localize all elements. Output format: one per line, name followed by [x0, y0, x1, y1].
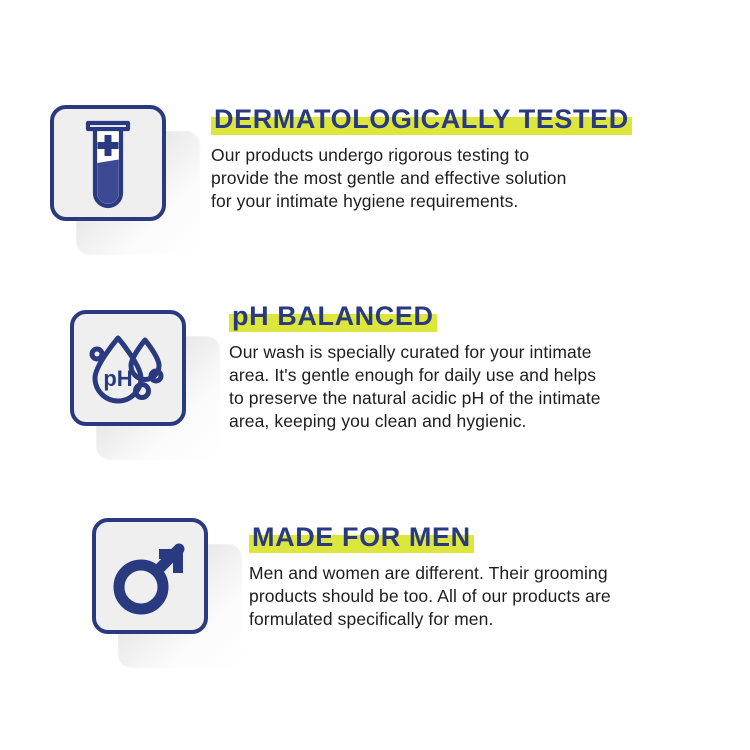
text-block-dermatologically-tested: DERMATOLOGICALLY TESTED Our products und… [211, 106, 632, 213]
heading-made-for-men: MADE FOR MEN [249, 524, 474, 553]
text-block-made-for-men: MADE FOR MEN Men and women are different… [249, 524, 611, 631]
body-line: area, keeping you clean and hygienic. [229, 410, 601, 433]
icon-card-frame [92, 518, 208, 634]
ph-label: pH [103, 366, 132, 391]
heading-text: DERMATOLOGICALLY TESTED [214, 104, 629, 134]
body-line: provide the most gentle and effective so… [211, 167, 632, 190]
body-line: Our products undergo rigorous testing to [211, 144, 632, 167]
body-line: Men and women are different. Their groom… [249, 562, 611, 585]
heading-text: MADE FOR MEN [252, 522, 471, 552]
icon-card-frame: pH [70, 310, 186, 426]
ph-droplet-icon: pH [82, 322, 174, 414]
body-text-made-for-men: Men and women are different. Their groom… [249, 562, 611, 631]
body-line: for your intimate hygiene requirements. [211, 190, 632, 213]
body-line: Our wash is specially curated for your i… [229, 341, 601, 364]
icon-card-dermatologically-tested [50, 105, 174, 229]
heading-dermatologically-tested: DERMATOLOGICALLY TESTED [211, 106, 632, 135]
body-line: to preserve the natural acidic pH of the… [229, 387, 601, 410]
infographic-page: DERMATOLOGICALLY TESTED Our products und… [0, 0, 750, 750]
body-line: products should be too. All of our produ… [249, 585, 611, 608]
test-tube-icon [73, 115, 143, 211]
body-line: formulated specifically for men. [249, 608, 611, 631]
icon-card-ph-balanced: pH [70, 310, 194, 434]
male-symbol-icon [107, 533, 193, 619]
heading-ph-balanced: pH BALANCED [229, 303, 437, 332]
icon-card-made-for-men [92, 518, 216, 642]
text-block-ph-balanced: pH BALANCED Our wash is specially curate… [229, 303, 601, 433]
icon-card-frame [50, 105, 166, 221]
body-text-dermatologically-tested: Our products undergo rigorous testing to… [211, 144, 632, 213]
body-text-ph-balanced: Our wash is specially curated for your i… [229, 341, 601, 433]
heading-text: pH BALANCED [232, 301, 434, 331]
body-line: area. It's gentle enough for daily use a… [229, 364, 601, 387]
